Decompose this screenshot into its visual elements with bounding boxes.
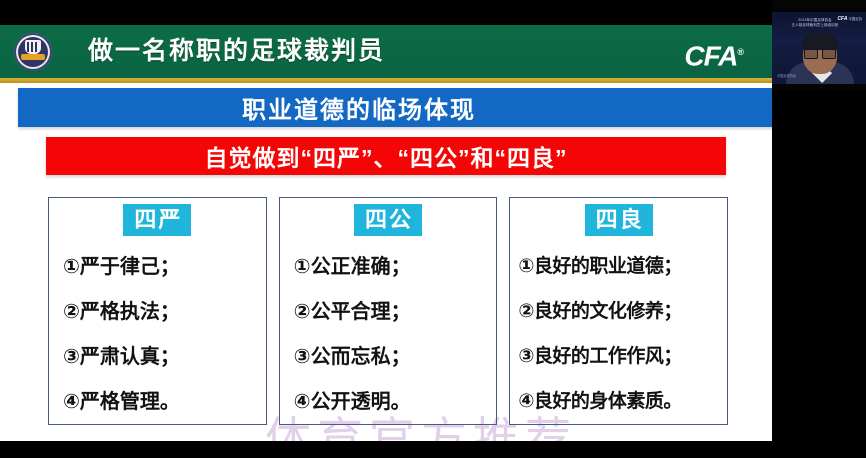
slide-header-bar: 做一名称职的足球裁判员 CFA® (0, 25, 772, 78)
video-caption-line2: 五人制足球裁判员上岗培训班 (782, 23, 848, 28)
column-box-si-yan: 四严 ①严于律己； ②严格执法； ③严肃认真； ④严格管理。 (48, 197, 267, 425)
section-banner-red: 自觉做到“四严”、“四公”和“四良” (46, 137, 726, 175)
cfa-crest-logo-icon (14, 33, 52, 71)
column-items-si-gong: ①公正准确； ②公平合理； ③公而忘私； ④公开透明。 (280, 244, 497, 424)
video-cfa-logo-text: CFA (837, 16, 847, 22)
section-banner-blue-text: 职业道德的临场体现 (242, 90, 476, 125)
screenshot-root: 做一名称职的足球裁判员 CFA® 职业道德的临场体现 自觉做到“四严”、“四公”… (0, 0, 866, 458)
list-item: ②严格执法； (63, 299, 260, 325)
list-item: ①公正准确； (294, 254, 491, 280)
list-item: ①严于律己； (63, 254, 260, 280)
video-corner-label: 中国足球协会 (777, 73, 796, 78)
column-items-si-yan: ①严于律己； ②严格执法； ③严肃认真； ④严格管理。 (49, 244, 266, 424)
column-header-si-yan: 四严 (123, 204, 191, 236)
list-item: ②公平合理； (294, 299, 491, 325)
cfa-wordmark: CFA® (684, 37, 744, 71)
list-item: ④良好的身体素质。 (518, 389, 721, 415)
cfa-wordmark-text: CFA (684, 40, 737, 71)
crest-stripes (27, 42, 29, 52)
list-item: ④严格管理。 (63, 389, 260, 415)
column-header-si-liang: 四良 (585, 204, 653, 236)
video-letterbox-top (772, 0, 866, 12)
page-title: 做一名称职的足球裁判员 (88, 35, 385, 68)
video-cfa-logo: CFA中国足协 (837, 16, 862, 22)
header-gold-rule (0, 78, 772, 83)
list-item: ③公而忘私； (294, 344, 491, 370)
list-item: ③良好的工作作风； (518, 344, 721, 370)
list-item: ①良好的职业道德； (518, 254, 721, 280)
glasses-icon (804, 49, 836, 58)
column-box-si-gong: 四公 ①公正准确； ②公平合理； ③公而忘私； ④公开透明。 (279, 197, 498, 425)
presenter-hair (802, 33, 838, 50)
column-items-si-liang: ①良好的职业道德； ②良好的文化修养； ③良好的工作作风； ④良好的身体素质。 (510, 244, 727, 424)
content-columns: 四严 ①严于律己； ②严格执法； ③严肃认真； ④严格管理。 四公 ①公正准确；… (48, 197, 728, 425)
list-item: ③严肃认真； (63, 344, 260, 370)
column-header-si-gong: 四公 (354, 204, 422, 236)
list-item: ②良好的文化修养； (518, 299, 721, 325)
presenter-video-overlay[interactable]: 2013年中国足球协会 五人制足球裁判员上岗培训班 CFA中国足协 中国足球协会 (772, 0, 866, 90)
section-banner-blue: 职业道德的临场体现 (18, 88, 772, 127)
video-cfa-logo-sub: 中国足协 (848, 17, 862, 21)
registered-mark: ® (737, 47, 744, 57)
crest-gold-band (21, 54, 45, 60)
list-item: ④公开透明。 (294, 389, 491, 415)
section-banner-red-text: 自觉做到“四严”、“四公”和“四良” (205, 139, 568, 173)
presentation-slide: 做一名称职的足球裁判员 CFA® 职业道德的临场体现 自觉做到“四严”、“四公”… (0, 25, 772, 441)
video-letterbox-bottom (772, 84, 866, 90)
column-box-si-liang: 四良 ①良好的职业道德； ②良好的文化修养； ③良好的工作作风； ④良好的身体素… (509, 197, 728, 425)
